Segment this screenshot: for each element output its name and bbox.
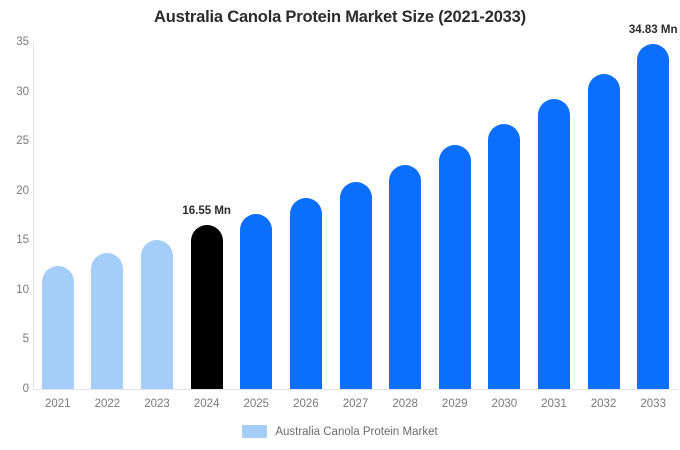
- y-tick-label: 15: [1, 234, 29, 246]
- value-label-2024: 16.55 Mn: [182, 205, 231, 217]
- bar-2021[interactable]: [42, 266, 74, 389]
- y-tick-label: 25: [1, 135, 29, 147]
- x-tick-label: 2029: [432, 398, 478, 410]
- y-tick-label: 0: [1, 383, 29, 395]
- x-axis-line: [33, 389, 678, 390]
- bar-2033[interactable]: [637, 44, 669, 389]
- y-tick-label: 20: [1, 185, 29, 197]
- bar-2031[interactable]: [538, 99, 570, 389]
- y-tick-label: 10: [1, 284, 29, 296]
- y-axis-tick-labels: 05101520253035: [0, 0, 29, 450]
- bar-chart: Australia Canola Protein Market Size (20…: [0, 0, 680, 450]
- bar-2023[interactable]: [141, 240, 173, 389]
- bar-2030[interactable]: [488, 124, 520, 389]
- legend-label: Australia Canola Protein Market: [275, 426, 437, 438]
- y-tick-label: 30: [1, 86, 29, 98]
- bar-2024[interactable]: [191, 225, 223, 389]
- x-tick-label: 2033: [630, 398, 676, 410]
- x-tick-label: 2023: [134, 398, 180, 410]
- bar-2027[interactable]: [340, 182, 372, 389]
- y-tick-label: 5: [1, 333, 29, 345]
- value-label-2033: 34.83 Mn: [629, 24, 678, 36]
- x-tick-label: 2031: [531, 398, 577, 410]
- x-tick-label: 2030: [481, 398, 527, 410]
- bar-2029[interactable]: [439, 145, 471, 389]
- bar-2032[interactable]: [588, 74, 620, 389]
- x-tick-label: 2026: [283, 398, 329, 410]
- chart-legend: Australia Canola Protein Market: [0, 425, 680, 438]
- x-tick-label: 2032: [581, 398, 627, 410]
- bar-2025[interactable]: [240, 214, 272, 389]
- bar-2022[interactable]: [91, 253, 123, 389]
- bars-layer: [33, 42, 678, 389]
- x-tick-label: 2024: [184, 398, 230, 410]
- chart-title: Australia Canola Protein Market Size (20…: [0, 8, 680, 27]
- bar-2028[interactable]: [389, 165, 421, 389]
- x-tick-label: 2021: [35, 398, 81, 410]
- y-tick-label: 35: [1, 36, 29, 48]
- legend-swatch-icon: [242, 425, 267, 438]
- x-tick-label: 2025: [233, 398, 279, 410]
- x-tick-label: 2028: [382, 398, 428, 410]
- x-tick-label: 2022: [84, 398, 130, 410]
- x-axis-tick-labels: 2021202220232024202520262027202820292030…: [33, 398, 678, 416]
- bar-2026[interactable]: [290, 198, 322, 389]
- x-tick-label: 2027: [333, 398, 379, 410]
